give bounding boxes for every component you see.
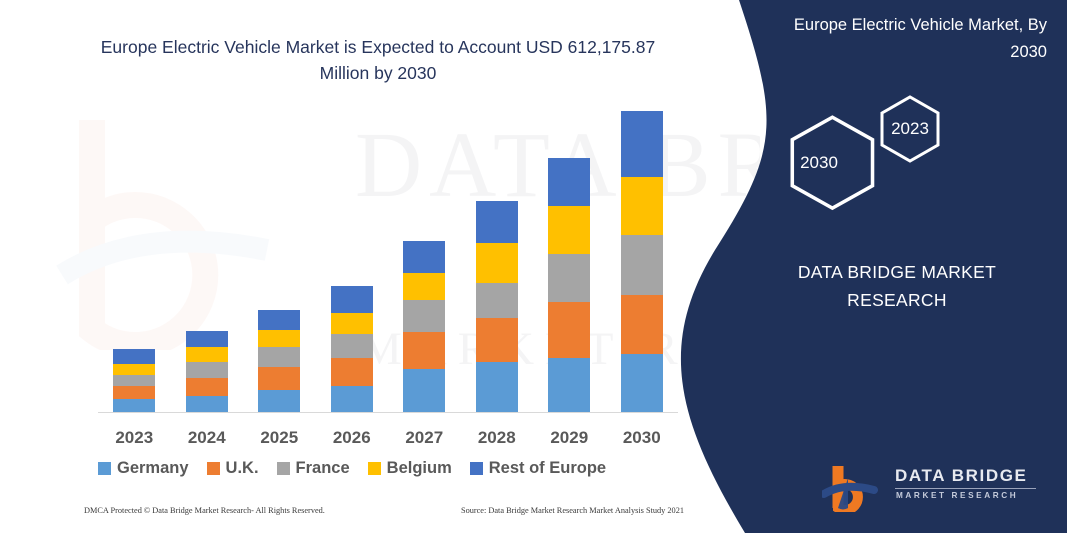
bar-segment[interactable] bbox=[331, 334, 373, 358]
bar-group[interactable] bbox=[403, 241, 445, 412]
legend-label: France bbox=[296, 459, 350, 478]
legend-item[interactable]: U.K. bbox=[207, 459, 259, 478]
bar-segment[interactable] bbox=[403, 241, 445, 273]
legend-swatch bbox=[470, 462, 483, 475]
bar-segment[interactable] bbox=[476, 283, 518, 319]
brand-logo: DATA BRIDGE MARKET RESEARCH bbox=[822, 462, 1042, 514]
bar-segment[interactable] bbox=[476, 318, 518, 362]
bar-segment[interactable] bbox=[331, 313, 373, 335]
hexagon-2030-label: 2030 bbox=[786, 153, 852, 173]
bar-segment[interactable] bbox=[113, 349, 155, 364]
bar-segment[interactable] bbox=[186, 378, 228, 396]
legend-swatch bbox=[277, 462, 290, 475]
bar-group[interactable] bbox=[331, 286, 373, 412]
bar-segment[interactable] bbox=[621, 235, 663, 294]
legend-item[interactable]: Germany bbox=[98, 459, 189, 478]
footer-copyright: DMCA Protected © Data Bridge Market Rese… bbox=[84, 506, 325, 515]
bar-segment[interactable] bbox=[258, 367, 300, 391]
legend-label: Rest of Europe bbox=[489, 459, 606, 478]
x-axis-label: 2029 bbox=[533, 428, 605, 448]
brand-name: DATA BRIDGE MARKET RESEARCH bbox=[762, 258, 1032, 314]
bar-segment[interactable] bbox=[403, 273, 445, 300]
legend-item[interactable]: France bbox=[277, 459, 350, 478]
bar-segment[interactable] bbox=[331, 286, 373, 313]
legend-swatch bbox=[98, 462, 111, 475]
bar-segment[interactable] bbox=[331, 386, 373, 412]
axis-baseline bbox=[98, 412, 678, 413]
bar-segment[interactable] bbox=[621, 111, 663, 177]
x-axis-label: 2025 bbox=[243, 428, 315, 448]
x-axis-label: 2027 bbox=[388, 428, 460, 448]
bar-segment[interactable] bbox=[403, 369, 445, 412]
chart-legend: GermanyU.K.FranceBelgiumRest of Europe bbox=[98, 455, 688, 481]
x-axis-label: 2028 bbox=[461, 428, 533, 448]
brand-logo-divider bbox=[895, 488, 1036, 489]
legend-swatch bbox=[368, 462, 381, 475]
legend-label: Germany bbox=[117, 459, 189, 478]
bar-segment[interactable] bbox=[476, 201, 518, 243]
bar-segment[interactable] bbox=[186, 362, 228, 377]
footer: DMCA Protected © Data Bridge Market Rese… bbox=[84, 506, 684, 515]
bar-segment[interactable] bbox=[186, 396, 228, 412]
bar-segment[interactable] bbox=[476, 243, 518, 283]
bar-segment[interactable] bbox=[331, 358, 373, 386]
bar-group[interactable] bbox=[621, 111, 663, 412]
brand-logo-text-top: DATA BRIDGE bbox=[895, 466, 1028, 486]
hexagon-pair: 2030 2023 bbox=[762, 95, 1002, 215]
bar-segment[interactable] bbox=[476, 362, 518, 412]
bar-segment[interactable] bbox=[258, 390, 300, 412]
bar-segment[interactable] bbox=[186, 347, 228, 362]
x-axis-label: 2023 bbox=[98, 428, 170, 448]
bar-group[interactable] bbox=[186, 331, 228, 412]
bar-segment[interactable] bbox=[548, 254, 590, 303]
bar-segment[interactable] bbox=[113, 399, 155, 412]
hexagon-2023-label: 2023 bbox=[877, 119, 943, 139]
bar-segment[interactable] bbox=[403, 332, 445, 369]
panel-title: Europe Electric Vehicle Market, By 2030 bbox=[777, 12, 1047, 66]
bar-segment[interactable] bbox=[621, 354, 663, 412]
bar-segment[interactable] bbox=[548, 206, 590, 253]
bar-segment[interactable] bbox=[403, 300, 445, 332]
bar-segment[interactable] bbox=[113, 375, 155, 386]
x-axis-labels: 20232024202520262027202820292030 bbox=[98, 428, 678, 454]
legend-label: U.K. bbox=[226, 459, 259, 478]
bar-segment[interactable] bbox=[621, 177, 663, 235]
bar-segment[interactable] bbox=[113, 386, 155, 399]
brand-logo-icon bbox=[822, 462, 892, 512]
legend-item[interactable]: Belgium bbox=[368, 459, 452, 478]
bar-segment[interactable] bbox=[258, 310, 300, 330]
infographic-root: DATA BRIDGE MARKET RESEARCH Europe Elect… bbox=[0, 0, 1067, 533]
brand-panel: Europe Electric Vehicle Market, By 2030 … bbox=[667, 0, 1067, 533]
legend-item[interactable]: Rest of Europe bbox=[470, 459, 606, 478]
brand-logo-text-bottom: MARKET RESEARCH bbox=[896, 491, 1018, 500]
footer-source: Source: Data Bridge Market Research Mark… bbox=[461, 506, 684, 515]
bar-segment[interactable] bbox=[548, 302, 590, 358]
legend-swatch bbox=[207, 462, 220, 475]
bar-segment[interactable] bbox=[621, 295, 663, 354]
bar-segment[interactable] bbox=[548, 358, 590, 412]
legend-label: Belgium bbox=[387, 459, 452, 478]
bar-segment[interactable] bbox=[548, 158, 590, 207]
bar-group[interactable] bbox=[548, 158, 590, 412]
bar-segment[interactable] bbox=[258, 330, 300, 347]
plot-area bbox=[98, 100, 678, 413]
bar-segment[interactable] bbox=[113, 364, 155, 376]
chart-panel: DATA BRIDGE MARKET RESEARCH Europe Elect… bbox=[0, 0, 760, 533]
x-axis-label: 2024 bbox=[171, 428, 243, 448]
bar-group[interactable] bbox=[476, 201, 518, 412]
x-axis-label: 2026 bbox=[316, 428, 388, 448]
chart-title: Europe Electric Vehicle Market is Expect… bbox=[78, 34, 678, 86]
bar-group[interactable] bbox=[258, 310, 300, 412]
bar-group[interactable] bbox=[113, 349, 155, 412]
brand-panel-content: Europe Electric Vehicle Market, By 2030 … bbox=[667, 0, 1067, 533]
bar-segment[interactable] bbox=[258, 347, 300, 366]
bar-segment[interactable] bbox=[186, 331, 228, 347]
